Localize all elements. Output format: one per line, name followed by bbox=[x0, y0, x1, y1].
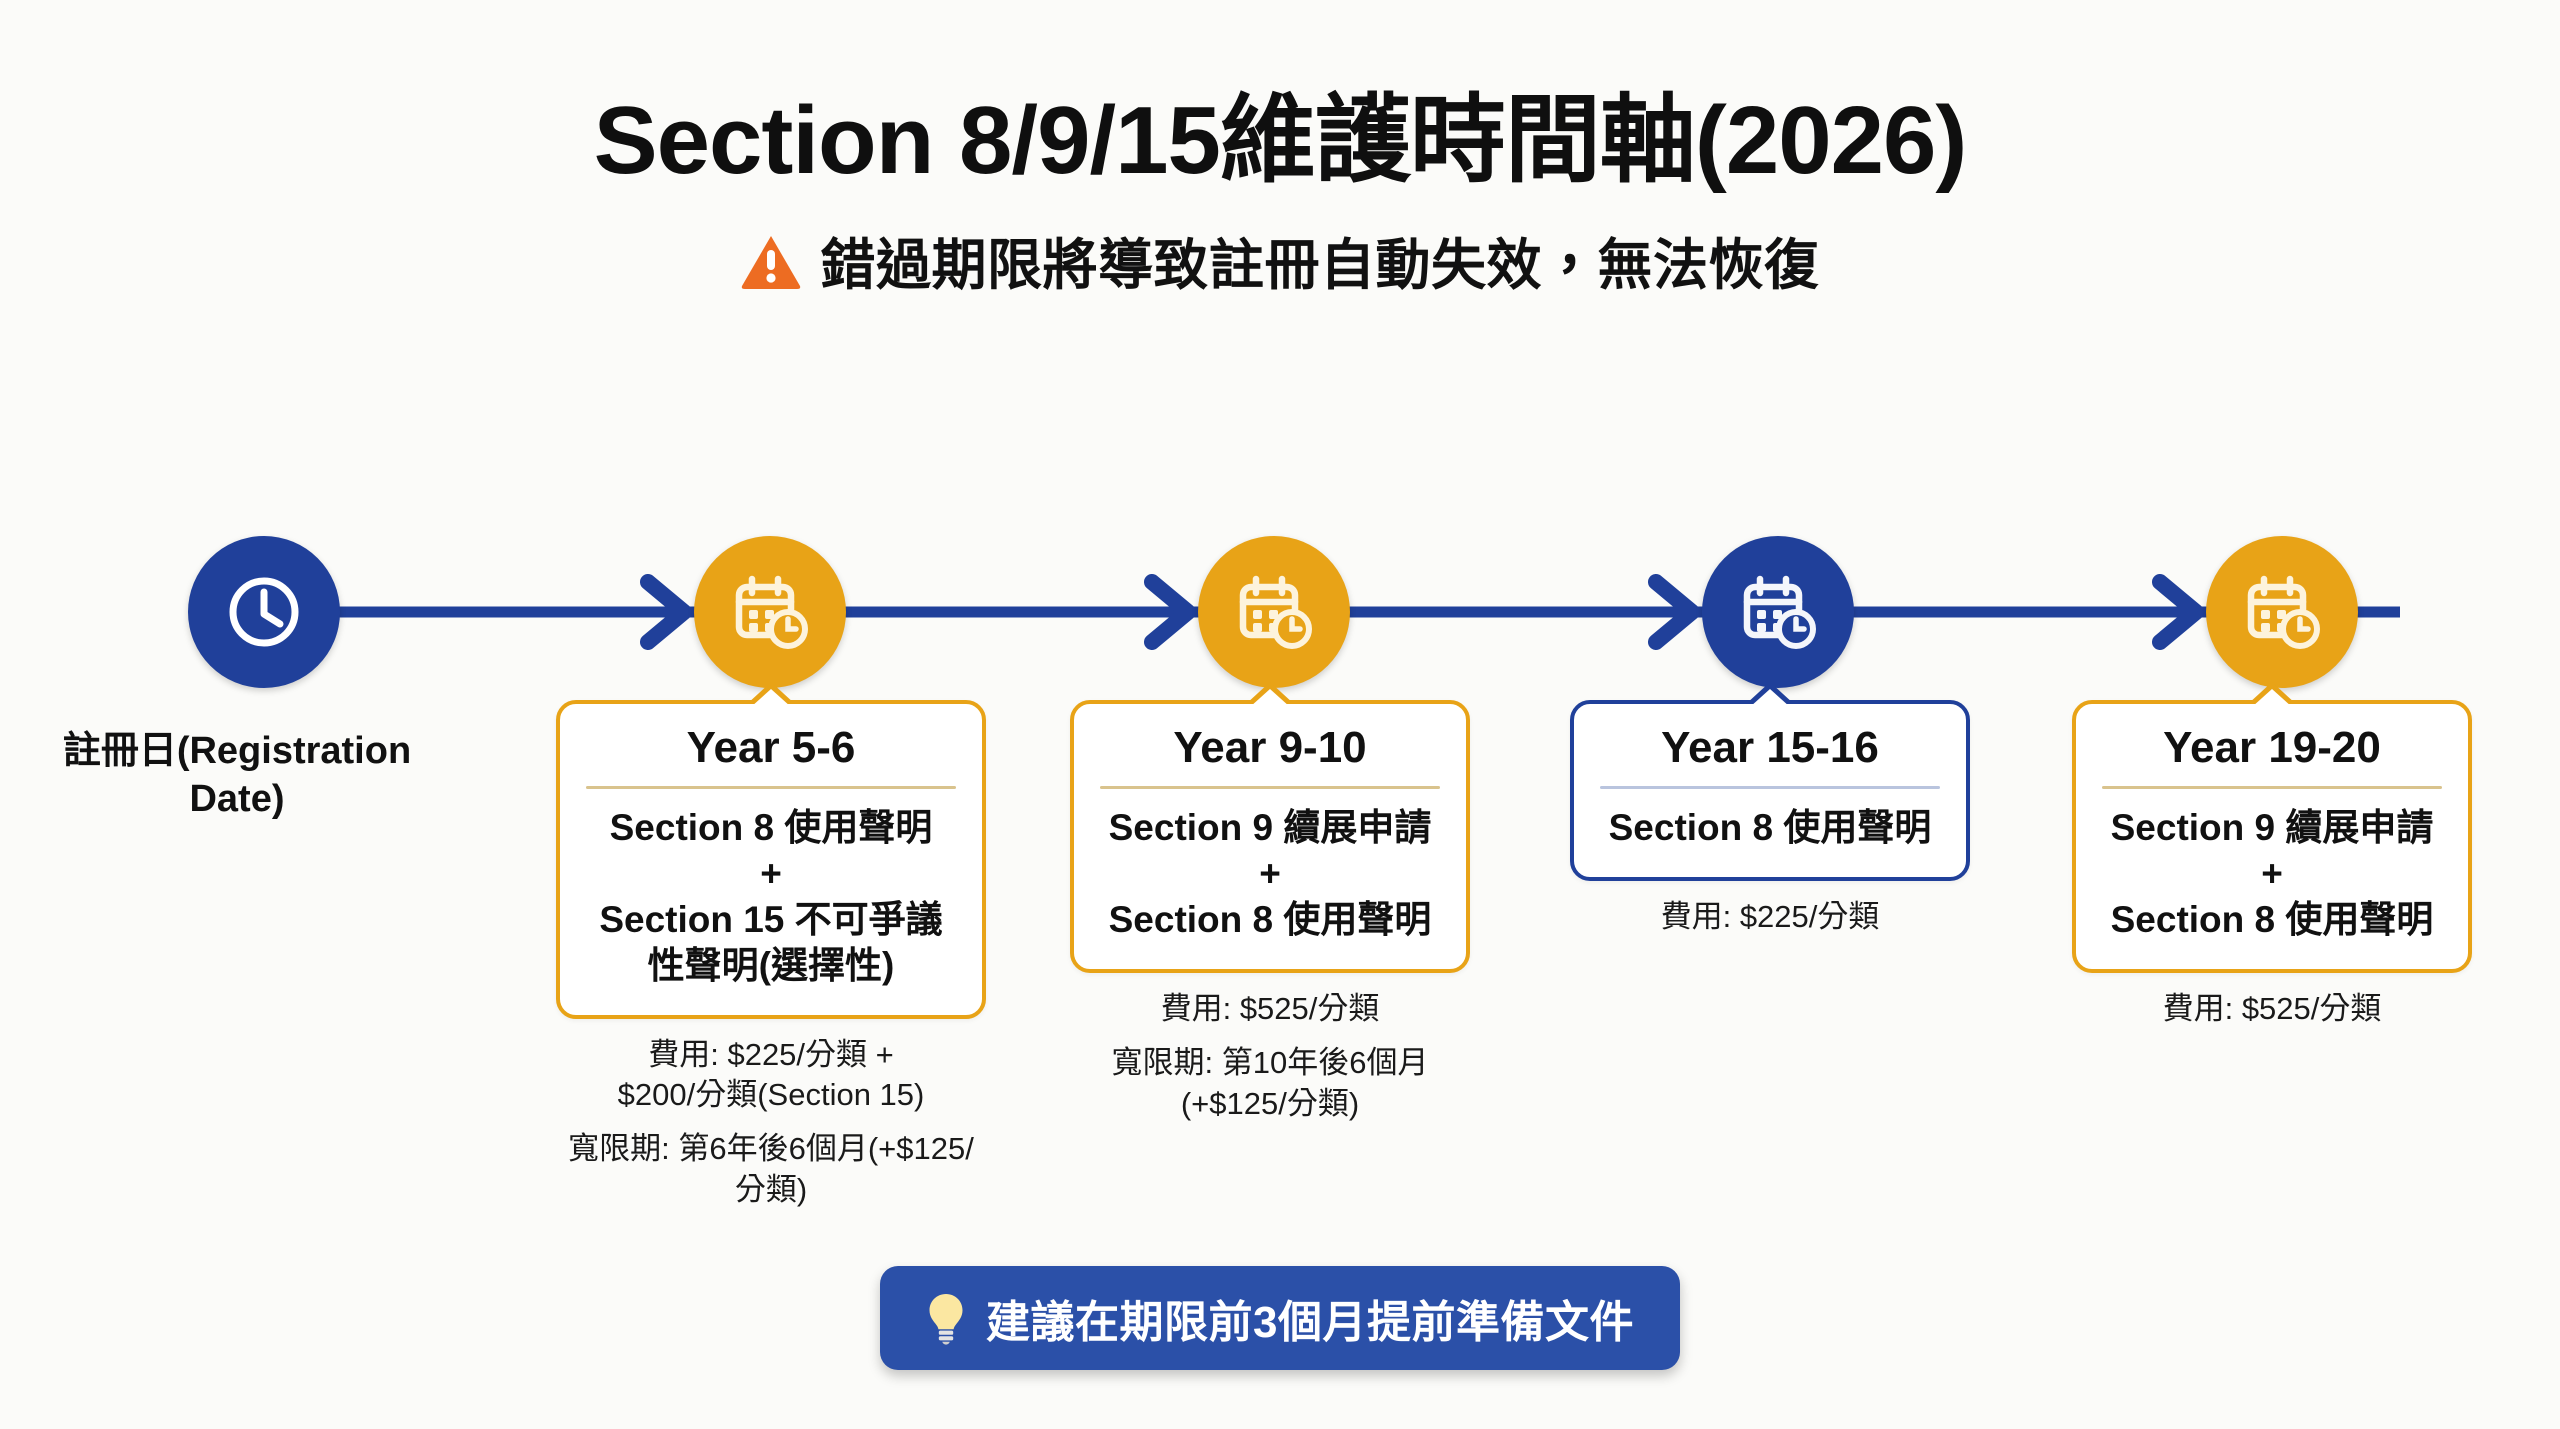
timeline-rail bbox=[0, 536, 2560, 696]
milestone-card-year-15-16[interactable]: Year 15-16 Section 8 使用聲明 bbox=[1570, 700, 1970, 881]
card-divider bbox=[586, 786, 956, 789]
subtitle-text: 錯過期限將導致註冊自動失效，無法恢復 bbox=[820, 220, 1819, 300]
milestone-fee: 費用: $225/分類 + $200/分類(Section 15) bbox=[556, 1035, 986, 1116]
milestone-card-year-19-20[interactable]: Year 19-20 Section 9 續展申請 + Section 8 使用… bbox=[2072, 700, 2472, 973]
recommendation-text: 建議在期限前3個月提前準備文件 bbox=[986, 1286, 1634, 1350]
timeline-node-year-19-20[interactable] bbox=[2206, 536, 2358, 688]
milestone-requirements: Section 8 使用聲明 bbox=[1596, 805, 1944, 851]
milestone-grace-period: 寬限期: 第6年後6個月(+$125/分類) bbox=[556, 1129, 986, 1210]
calendar-clock-icon bbox=[1735, 569, 1821, 655]
milestone-card-year-9-10[interactable]: Year 9-10 Section 9 續展申請 + Section 8 使用聲… bbox=[1070, 700, 1470, 973]
milestone-grace-period: 寬限期: 第10年後6個月(+$125/分類) bbox=[1070, 1043, 1470, 1124]
milestone-column-year-19-20: Year 19-20 Section 9 續展申請 + Section 8 使用… bbox=[2072, 700, 2472, 1029]
card-divider bbox=[2102, 786, 2442, 789]
calendar-clock-icon bbox=[1231, 569, 1317, 655]
milestone-column-year-9-10: Year 9-10 Section 9 續展申請 + Section 8 使用聲… bbox=[1070, 700, 1470, 1124]
calendar-clock-icon bbox=[727, 569, 813, 655]
milestone-fee: 費用: $525/分類 bbox=[2072, 989, 2472, 1029]
timeline-node-registration[interactable] bbox=[188, 536, 340, 688]
card-divider bbox=[1100, 786, 1440, 789]
timeline-node-year-15-16[interactable] bbox=[1702, 536, 1854, 688]
timeline-node-year-5-6[interactable] bbox=[694, 536, 846, 688]
recommendation-banner[interactable]: 建議在期限前3個月提前準備文件 bbox=[880, 1266, 1680, 1370]
header: Section 8/9/15維護時間軸(2026) 錯過期限將導致註冊自動失效，… bbox=[0, 0, 2560, 300]
clock-icon bbox=[223, 571, 305, 653]
milestone-fee: 費用: $225/分類 bbox=[1570, 897, 1970, 937]
card-divider bbox=[1600, 786, 1940, 789]
milestone-year-label: Year 9-10 bbox=[1096, 724, 1444, 786]
timeline-node-year-9-10[interactable] bbox=[1198, 536, 1350, 688]
milestone-column-year-15-16: Year 15-16 Section 8 使用聲明 費用: $225/分類 bbox=[1570, 700, 1970, 938]
registration-date-label: 註冊日(Registration Date) bbox=[28, 728, 446, 823]
lightbulb-icon bbox=[926, 1291, 966, 1345]
milestone-card-year-5-6[interactable]: Year 5-6 Section 8 使用聲明 + Section 15 不可爭… bbox=[556, 700, 986, 1019]
milestone-column-year-5-6: Year 5-6 Section 8 使用聲明 + Section 15 不可爭… bbox=[556, 700, 986, 1210]
milestone-requirements: Section 8 使用聲明 + Section 15 不可爭議 性聲明(選擇性… bbox=[582, 805, 960, 989]
calendar-clock-icon bbox=[2239, 569, 2325, 655]
subtitle-row: 錯過期限將導致註冊自動失效，無法恢復 bbox=[0, 220, 2560, 300]
milestone-year-label: Year 15-16 bbox=[1596, 724, 1944, 786]
milestone-requirements: Section 9 續展申請 + Section 8 使用聲明 bbox=[1096, 805, 1444, 943]
page-title: Section 8/9/15維護時間軸(2026) bbox=[0, 0, 2560, 194]
warning-triangle-icon bbox=[740, 231, 802, 293]
milestone-requirements: Section 9 續展申請 + Section 8 使用聲明 bbox=[2098, 805, 2446, 943]
milestone-year-label: Year 19-20 bbox=[2098, 724, 2446, 786]
milestone-fee: 費用: $525/分類 bbox=[1070, 989, 1470, 1029]
milestone-year-label: Year 5-6 bbox=[582, 724, 960, 786]
